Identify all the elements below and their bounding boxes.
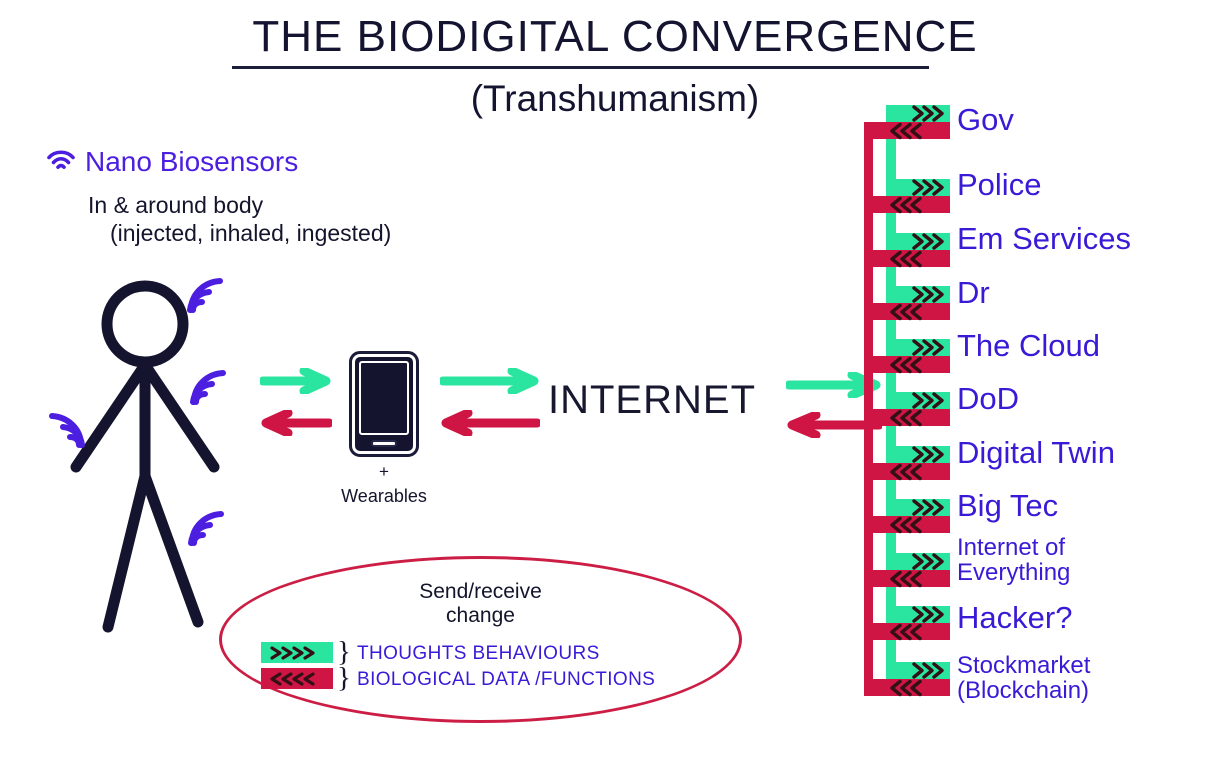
chevrons-right-icon bbox=[266, 645, 328, 661]
nano-biosensors-label: Nano Biosensors bbox=[85, 146, 298, 178]
rail-item-dr[interactable]: Dr bbox=[957, 277, 990, 308]
legend-swatch-red bbox=[261, 668, 333, 689]
rail-item-police[interactable]: Police bbox=[957, 169, 1041, 200]
rail-row-branch bbox=[864, 606, 950, 640]
wifi-icon bbox=[46, 148, 76, 177]
page-title: THE BIODIGITAL CONVERGENCE bbox=[0, 12, 1230, 62]
rail-item-gov[interactable]: Gov bbox=[957, 104, 1014, 135]
phone-plus-label: + bbox=[352, 462, 416, 482]
chevrons-left-icon bbox=[266, 671, 328, 687]
rail-item-internet-of-everything[interactable]: Internet of Everything bbox=[957, 535, 1147, 586]
legend-title: Send/receive change bbox=[219, 580, 742, 628]
wifi-icon bbox=[182, 272, 228, 314]
legend-swatch-green bbox=[261, 642, 333, 663]
nano-biosensors-heading: Nano Biosensors bbox=[46, 146, 298, 178]
rail-row-branch bbox=[864, 286, 950, 320]
wifi-icon bbox=[185, 364, 231, 406]
internet-label: INTERNET bbox=[548, 378, 756, 423]
rail-item-stockmarket-blockchain[interactable]: Stockmarket (Blockchain) bbox=[957, 653, 1157, 704]
wifi-icon-left bbox=[44, 407, 90, 449]
rail-item-the-cloud[interactable]: The Cloud bbox=[957, 330, 1100, 361]
rail-row-branch bbox=[864, 392, 950, 426]
arrow-right-green-phone-to-internet bbox=[440, 368, 540, 394]
rail-item-em-services[interactable]: Em Services bbox=[957, 223, 1131, 254]
arrow-left-red-phone-to-body bbox=[260, 410, 332, 436]
rail-row-branch bbox=[864, 339, 950, 373]
legend-row-receive: } BIOLOGICAL DATA /FUNCTIONS bbox=[261, 667, 721, 691]
arrow-left-red-internet-to-phone bbox=[440, 410, 540, 436]
legend-row-send: } THOUGHTS BEHAVIOURS bbox=[261, 641, 721, 665]
distribution-rail bbox=[860, 96, 970, 716]
legend-rows: } THOUGHTS BEHAVIOURS } BIOLOGICAL DATA … bbox=[261, 641, 721, 693]
body-note-line-2: (injected, inhaled, ingested) bbox=[110, 220, 391, 247]
legend-brace: } bbox=[337, 662, 351, 695]
rail-row-branch bbox=[864, 179, 950, 213]
rail-row-branch bbox=[864, 553, 950, 587]
legend-label-biological: BIOLOGICAL DATA /FUNCTIONS bbox=[357, 669, 655, 691]
rail-row-branch bbox=[864, 233, 950, 267]
title-underline bbox=[232, 66, 929, 69]
legend-label-thoughts: THOUGHTS BEHAVIOURS bbox=[357, 643, 600, 665]
legend-title-line-1: Send/receive bbox=[219, 580, 742, 604]
rail-row-branch bbox=[864, 499, 950, 533]
rail-item-big-tec[interactable]: Big Tec bbox=[957, 490, 1058, 521]
diagram-canvas: THE BIODIGITAL CONVERGENCE (Transhumanis… bbox=[0, 0, 1230, 776]
phone-screen bbox=[359, 361, 409, 435]
rail-row-branch bbox=[864, 662, 950, 696]
smartphone-icon bbox=[352, 354, 416, 454]
rail-item-digital-twin[interactable]: Digital Twin bbox=[957, 437, 1115, 468]
rail-item-dod[interactable]: DoD bbox=[957, 383, 1019, 414]
wearables-label: Wearables bbox=[322, 486, 446, 507]
arrow-right-green-body-to-phone bbox=[260, 368, 332, 394]
body-note-line-1: In & around body bbox=[88, 192, 263, 219]
phone-home-indicator bbox=[371, 440, 397, 447]
rail-row-branch bbox=[864, 446, 950, 480]
rail-row-branch bbox=[864, 105, 950, 139]
rail-item-hacker[interactable]: Hacker? bbox=[957, 602, 1072, 633]
legend-title-line-2: change bbox=[219, 604, 742, 628]
wifi-icon bbox=[183, 505, 229, 547]
rail-label-list: Gov Police Em Services Dr The Cloud DoD … bbox=[957, 96, 1230, 721]
